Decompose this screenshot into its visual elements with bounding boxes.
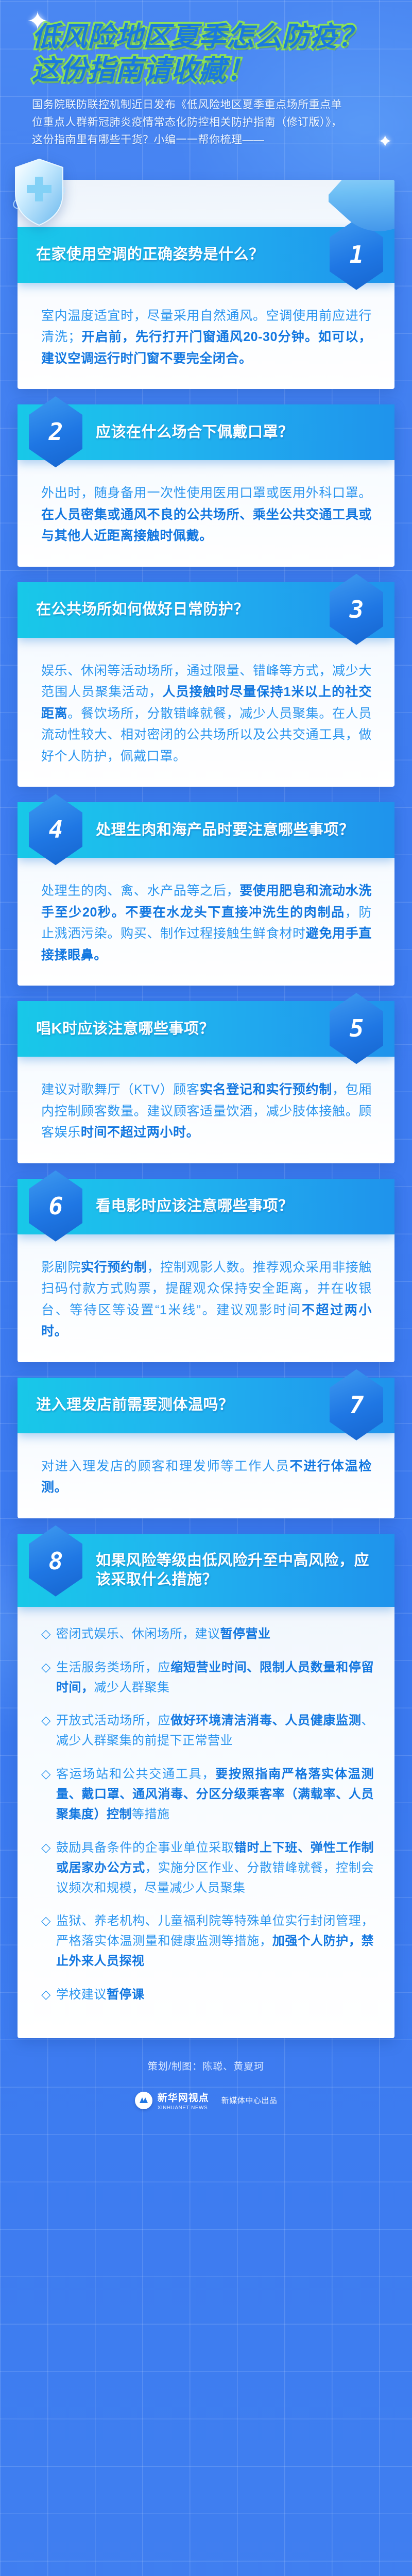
body-text: 处理生的肉、禽、水产品等之后， bbox=[41, 884, 239, 898]
section-header-7: 进入理发店前需要测体温吗？ 7 bbox=[18, 1378, 394, 1433]
section-card-1: 在家使用空调的正确姿势是什么？ 1 室内温度适宜时，尽量采用自然通风。空调使用前… bbox=[18, 180, 394, 389]
sparkle-icon: ✦ bbox=[27, 8, 48, 34]
section-card-7: 进入理发店前需要测体温吗？ 7 对进入理发店的顾客和理发师等工作人员不进行体温检… bbox=[18, 1378, 394, 1518]
section-card-3: 在公共场所如何做好日常防护？ 3 娱乐、休闲等活动场所，通过限量、错峰等方式，减… bbox=[18, 582, 394, 787]
section-number-3: 3 bbox=[350, 596, 364, 623]
section-title-7: 进入理发店前需要测体温吗？ bbox=[36, 1396, 234, 1415]
diamond-outline-icon: ◇ bbox=[41, 1985, 51, 2005]
section-title-1: 在家使用空调的正确姿势是什么？ bbox=[36, 245, 264, 264]
list-item: ◇ 开放式活动场所，应做好环境清洁消毒、人员健康监测、减少人群聚集的前提下正常营… bbox=[41, 1711, 374, 1751]
body-text: 。餐饮场所，分散错峰就餐，减少人员聚集。在人员流动性较大、相对密闭的公共场所以及… bbox=[41, 706, 372, 764]
diamond-outline-icon: ◇ bbox=[41, 1624, 51, 1645]
publisher-subname: XINHUANET NEWS bbox=[158, 2105, 209, 2111]
body-emphasis: 开启前，先行打开门窗通风20-30分钟。如可以，建议空调运行时门窗不要完全闭合。 bbox=[41, 330, 372, 366]
diamond-outline-icon: ◇ bbox=[41, 1911, 51, 1972]
section-header-6: 6 看电影时应该注意哪些事项？ bbox=[18, 1179, 394, 1234]
section-number-badge-5: 5 bbox=[330, 993, 383, 1064]
shield-health-icon bbox=[11, 157, 67, 227]
section-number-badge-8: 8 bbox=[29, 1526, 82, 1597]
bullet-emphasis: 做好环境清洁消毒、人员健康监测 bbox=[170, 1714, 361, 1727]
section-title-2: 应该在什么场合下佩戴口罩？ bbox=[96, 423, 294, 442]
section-title-4: 处理生肉和海产品时要注意哪些事项？ bbox=[96, 821, 354, 840]
section-number-5: 5 bbox=[350, 1014, 364, 1042]
section-number-8: 8 bbox=[49, 1547, 63, 1575]
section-number-badge-6: 6 bbox=[29, 1171, 82, 1242]
section-header-8: 8 如果风险等级由低风险升至中高风险，应该采取什么措施？ bbox=[18, 1534, 394, 1607]
body-emphasis: 在人员密集或通风不良的公共场所、乘坐公共交通工具或与其他人近距离接触时佩戴。 bbox=[41, 507, 372, 544]
bullet-text: 鼓励具备条件的企事业单位采取 bbox=[56, 1841, 234, 1855]
section-body-7: 对进入理发店的顾客和理发师等工作人员不进行体温检测。 bbox=[18, 1433, 394, 1499]
section-8-bullet-list: ◇ 密闭式娱乐、休闲场所，建议暂停营业 ◇ 生活服务类场所，应缩短营业时间、限制… bbox=[18, 1607, 394, 2005]
section-number-7: 7 bbox=[350, 1391, 364, 1419]
body-text: 影剧院 bbox=[41, 1260, 81, 1275]
publisher-name: 新华网视点 bbox=[158, 2090, 209, 2104]
list-item: ◇ 监狱、养老机构、儿童福利院等特殊单位实行封闭管理，严格落实体温测量和健康监测… bbox=[41, 1911, 374, 1972]
section-title-8: 如果风险等级由低风险升至中高风险，应该采取什么措施？ bbox=[96, 1551, 384, 1589]
section-card-5: 唱K时应该注意哪些事项？ 5 建议对歌舞厅（KTV）顾客实名登记和实行预约制，包… bbox=[18, 1001, 394, 1163]
publisher-logo: 新华网视点 XINHUANET NEWS 新媒体中心出品 bbox=[0, 2090, 412, 2111]
infographic-page: ✦ ✦ 低风险地区夏季怎么防疫？ 这份指南请收藏！ 国务院联防联控机制近日发布《… bbox=[0, 0, 412, 2111]
section-number-badge-4: 4 bbox=[29, 794, 82, 865]
section-body-6: 影剧院实行预约制，控制观影人数。推荐观众采用非接触扫码付款方式购票，提醒观众保持… bbox=[18, 1234, 394, 1343]
publisher-name-block: 新华网视点 XINHUANET NEWS bbox=[158, 2090, 209, 2111]
section-body-1: 室内温度适宜时，尽量采用自然通风。空调使用前应进行清洗；开启前，先行打开门窗通风… bbox=[18, 283, 394, 370]
section-number-badge-2: 2 bbox=[29, 396, 82, 467]
body-text: 建议对歌舞厅（KTV）顾客 bbox=[41, 1082, 200, 1097]
hero-section: ✦ ✦ 低风险地区夏季怎么防疫？ 这份指南请收藏！ 国务院联防联控机制近日发布《… bbox=[0, 0, 412, 149]
section-header-5: 唱K时应该注意哪些事项？ 5 bbox=[18, 1001, 394, 1057]
body-emphasis: 时间不超过两小时。 bbox=[81, 1125, 199, 1140]
section-number-6: 6 bbox=[49, 1192, 63, 1220]
section-title-6: 看电影时应该注意哪些事项？ bbox=[96, 1197, 294, 1216]
xinhua-logo-icon bbox=[135, 2092, 152, 2109]
section-body-2: 外出时，随身备用一次性使用医用口罩或医用外科口罩。在人员密集或通风不良的公共场所… bbox=[18, 460, 394, 547]
list-item: ◇ 密闭式娱乐、休闲场所，建议暂停营业 bbox=[41, 1624, 374, 1645]
section-body-4: 处理生的肉、禽、水产品等之后，要使用肥皂和流动水洗手至少20秒。不要在水龙头下直… bbox=[18, 858, 394, 966]
section-title-3: 在公共场所如何做好日常防护？ bbox=[36, 600, 249, 619]
diamond-outline-icon: ◇ bbox=[41, 1711, 51, 1751]
diamond-outline-icon: ◇ bbox=[41, 1765, 51, 1825]
section-header-3: 在公共场所如何做好日常防护？ 3 bbox=[18, 582, 394, 638]
publisher-unit: 新媒体中心出品 bbox=[221, 2095, 278, 2106]
bullet-text: 减少人群聚集 bbox=[94, 1681, 169, 1694]
section-card-2: 2 应该在什么场合下佩戴口罩？ 外出时，随身备用一次性使用医用口罩或医用外科口罩… bbox=[18, 404, 394, 567]
credit-line: 策划/制图：陈聪、黄夏珂 bbox=[0, 2059, 412, 2073]
section-number-2: 2 bbox=[49, 418, 63, 446]
body-text: 对进入理发店的顾客和理发师等工作人员 bbox=[41, 1459, 289, 1473]
bullet-text: 等措施 bbox=[132, 1807, 170, 1821]
diamond-outline-icon: ◇ bbox=[41, 1838, 51, 1899]
list-item: ◇ 学校建议暂停课 bbox=[41, 1985, 374, 2005]
page-title-line-1: 低风险地区夏季怎么防疫？ bbox=[32, 22, 403, 52]
list-item: ◇ 生活服务类场所，应缩短营业时间、限制人员数量和停留时间，减少人群聚集 bbox=[41, 1658, 374, 1698]
bullet-text: 学校建议 bbox=[56, 1988, 107, 2002]
lead-paragraph: 国务院联防联控机制近日发布《低风险地区夏季重点场所重点单位重点人群新冠肺炎疫情常… bbox=[32, 96, 351, 149]
section-body-3: 娱乐、休闲等活动场所，通过限量、错峰等方式，减少大范围人员聚集活动，人员接触时尽… bbox=[18, 638, 394, 768]
section-title-5: 唱K时应该注意哪些事项？ bbox=[36, 1020, 214, 1039]
section-number-badge-7: 7 bbox=[330, 1369, 383, 1440]
section-card-8: 8 如果风险等级由低风险升至中高风险，应该采取什么措施？ ◇ 密闭式娱乐、休闲场… bbox=[18, 1534, 394, 2038]
body-emphasis: 实名登记和实行预约制 bbox=[200, 1082, 332, 1097]
section-number-4: 4 bbox=[49, 816, 63, 843]
bullet-emphasis: 暂停营业 bbox=[220, 1627, 270, 1641]
section-number-badge-3: 3 bbox=[330, 574, 383, 645]
page-title: 低风险地区夏季怎么防疫？ 这份指南请收藏！ bbox=[0, 22, 412, 86]
section-body-5: 建议对歌舞厅（KTV）顾客实名登记和实行预约制，包厢内控制顾客数量。建议顾客适量… bbox=[18, 1057, 394, 1144]
list-item: ◇ 鼓励具备条件的企事业单位采取错时上下班、弹性工作制或居家办公方式，实施分区作… bbox=[41, 1838, 374, 1899]
section-card-6: 6 看电影时应该注意哪些事项？ 影剧院实行预约制，控制观影人数。推荐观众采用非接… bbox=[18, 1179, 394, 1362]
diamond-outline-icon: ◇ bbox=[41, 1658, 51, 1698]
sparkle-icon: ✦ bbox=[378, 133, 393, 150]
bullet-emphasis: 暂停课 bbox=[107, 1988, 145, 2002]
bullet-text: 客运场站和公共交通工具， bbox=[56, 1767, 215, 1781]
bullet-text: 开放式活动场所，应 bbox=[56, 1714, 170, 1727]
page-title-line-2: 这份指南请收藏！ bbox=[32, 55, 403, 86]
bullet-text: 密闭式娱乐、休闲场所，建议 bbox=[56, 1627, 220, 1641]
section-header-4: 4 处理生肉和海产品时要注意哪些事项？ bbox=[18, 802, 394, 858]
bullet-text: 生活服务类场所，应 bbox=[56, 1660, 170, 1674]
body-text: 外出时，随身备用一次性使用医用口罩或医用外科口罩。 bbox=[41, 486, 372, 500]
section-header-2: 2 应该在什么场合下佩戴口罩？ bbox=[18, 404, 394, 460]
section-card-4: 4 处理生肉和海产品时要注意哪些事项？ 处理生的肉、禽、水产品等之后，要使用肥皂… bbox=[18, 802, 394, 986]
list-item: ◇ 客运场站和公共交通工具，要按照指南严格落实体温测量、戴口罩、通风消毒、分区分… bbox=[41, 1765, 374, 1825]
corner-fold-decoration bbox=[329, 180, 394, 246]
body-emphasis: 实行预约制 bbox=[81, 1260, 147, 1275]
